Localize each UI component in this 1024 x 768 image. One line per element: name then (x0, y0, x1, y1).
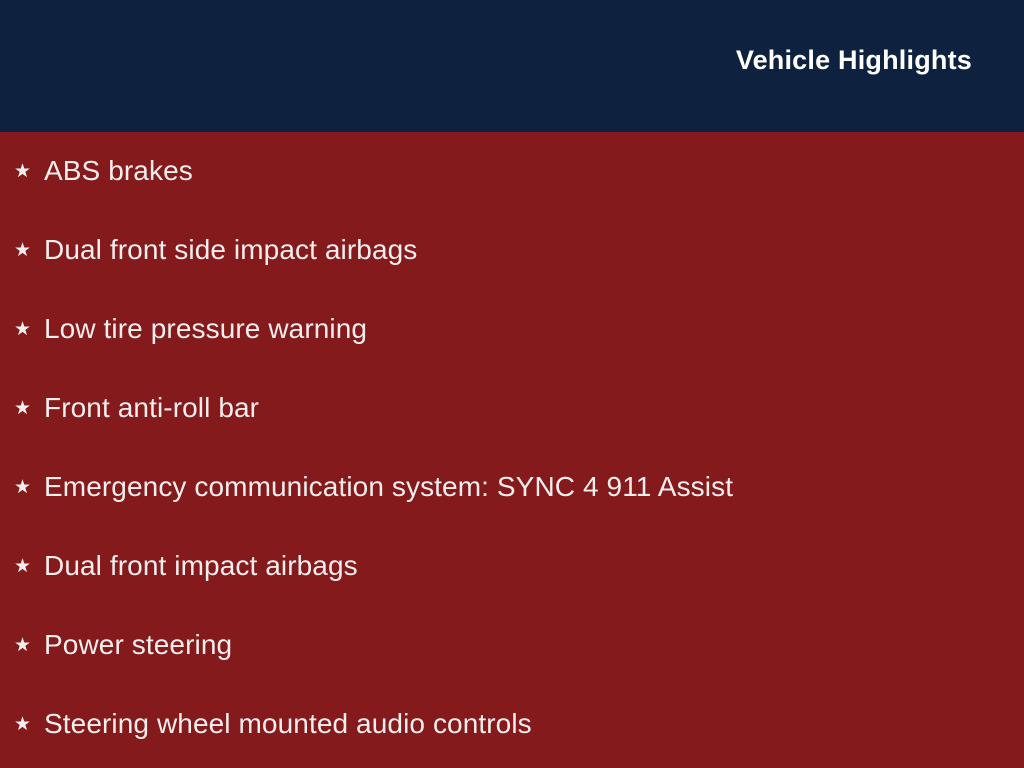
star-icon: ★ (14, 320, 44, 339)
feature-label: Emergency communication system: SYNC 4 9… (44, 471, 1024, 503)
feature-label: Front anti-roll bar (44, 392, 1024, 424)
page-title: Vehicle Highlights (736, 47, 972, 74)
star-icon: ★ (14, 636, 44, 655)
vehicle-highlights-slide: Vehicle Highlights ★ ABS brakes ★ Dual f… (0, 0, 1024, 768)
list-item: ★ Dual front side impact airbags (0, 211, 1024, 290)
list-item: ★ Emergency communication system: SYNC 4… (0, 448, 1024, 527)
list-item: ★ Power steering (0, 606, 1024, 685)
star-icon: ★ (14, 715, 44, 734)
slide-body: ★ ABS brakes ★ Dual front side impact ai… (0, 132, 1024, 768)
list-item: ★ Low tire pressure warning (0, 290, 1024, 369)
list-item: ★ Front anti-roll bar (0, 369, 1024, 448)
feature-label: ABS brakes (44, 155, 1024, 187)
feature-label: Steering wheel mounted audio controls (44, 708, 1024, 740)
list-item: ★ ABS brakes (0, 132, 1024, 211)
feature-label: Dual front impact airbags (44, 550, 1024, 582)
list-item: ★ Steering wheel mounted audio controls (0, 685, 1024, 764)
slide-header-band: Vehicle Highlights (0, 0, 1024, 132)
star-icon: ★ (14, 241, 44, 260)
star-icon: ★ (14, 478, 44, 497)
vehicle-feature-list: ★ ABS brakes ★ Dual front side impact ai… (0, 132, 1024, 764)
list-item: ★ Dual front impact airbags (0, 527, 1024, 606)
star-icon: ★ (14, 557, 44, 576)
feature-label: Dual front side impact airbags (44, 234, 1024, 266)
feature-label: Low tire pressure warning (44, 313, 1024, 345)
feature-label: Power steering (44, 629, 1024, 661)
star-icon: ★ (14, 162, 44, 181)
star-icon: ★ (14, 399, 44, 418)
